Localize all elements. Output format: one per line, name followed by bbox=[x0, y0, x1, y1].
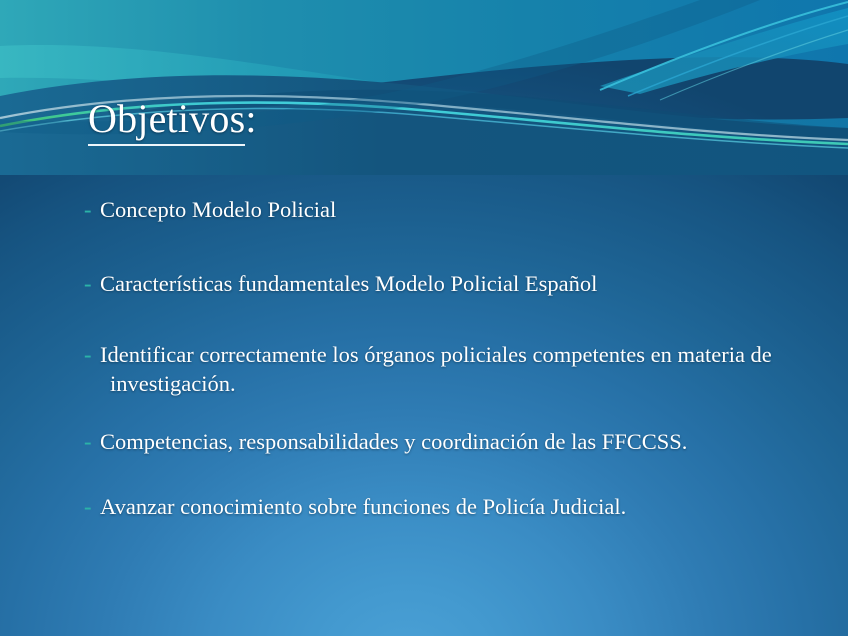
list-item: - Características fundamentales Modelo P… bbox=[84, 270, 828, 299]
dash-bullet-icon: - bbox=[84, 428, 99, 457]
decorative-wave-graphic bbox=[0, 0, 848, 175]
spacer bbox=[84, 398, 828, 428]
title-underlined-text: Objetivos bbox=[88, 96, 245, 146]
slide-title: Objetivos: bbox=[88, 97, 788, 140]
list-item: - Identificar correctamente los órganos … bbox=[84, 341, 828, 398]
title-colon: : bbox=[245, 96, 256, 141]
dash-bullet-icon: - bbox=[84, 493, 99, 522]
list-item-text: Concepto Modelo Policial bbox=[100, 196, 828, 225]
presentation-slide: Objetivos: - Concepto Modelo Policial - … bbox=[0, 0, 848, 636]
spacer bbox=[84, 298, 828, 341]
list-item: - Avanzar conocimiento sobre funciones d… bbox=[84, 493, 828, 522]
list-item-text: Características fundamentales Modelo Pol… bbox=[100, 270, 828, 299]
dash-bullet-icon: - bbox=[84, 270, 99, 299]
spacer bbox=[84, 457, 828, 493]
list-item-text: Avanzar conocimiento sobre funciones de … bbox=[100, 493, 828, 522]
slide-body-list: - Concepto Modelo Policial - Característ… bbox=[84, 196, 828, 521]
dash-bullet-icon: - bbox=[84, 341, 99, 370]
list-item: - Concepto Modelo Policial bbox=[84, 196, 828, 225]
dash-bullet-icon: - bbox=[84, 196, 99, 225]
list-item-text: Identificar correctamente los órganos po… bbox=[100, 341, 828, 398]
spacer bbox=[84, 225, 828, 270]
page-title: Objetivos: bbox=[88, 97, 257, 140]
list-item-text: Competencias, responsabilidades y coordi… bbox=[100, 428, 828, 457]
list-item: - Competencias, responsabilidades y coor… bbox=[84, 428, 828, 457]
